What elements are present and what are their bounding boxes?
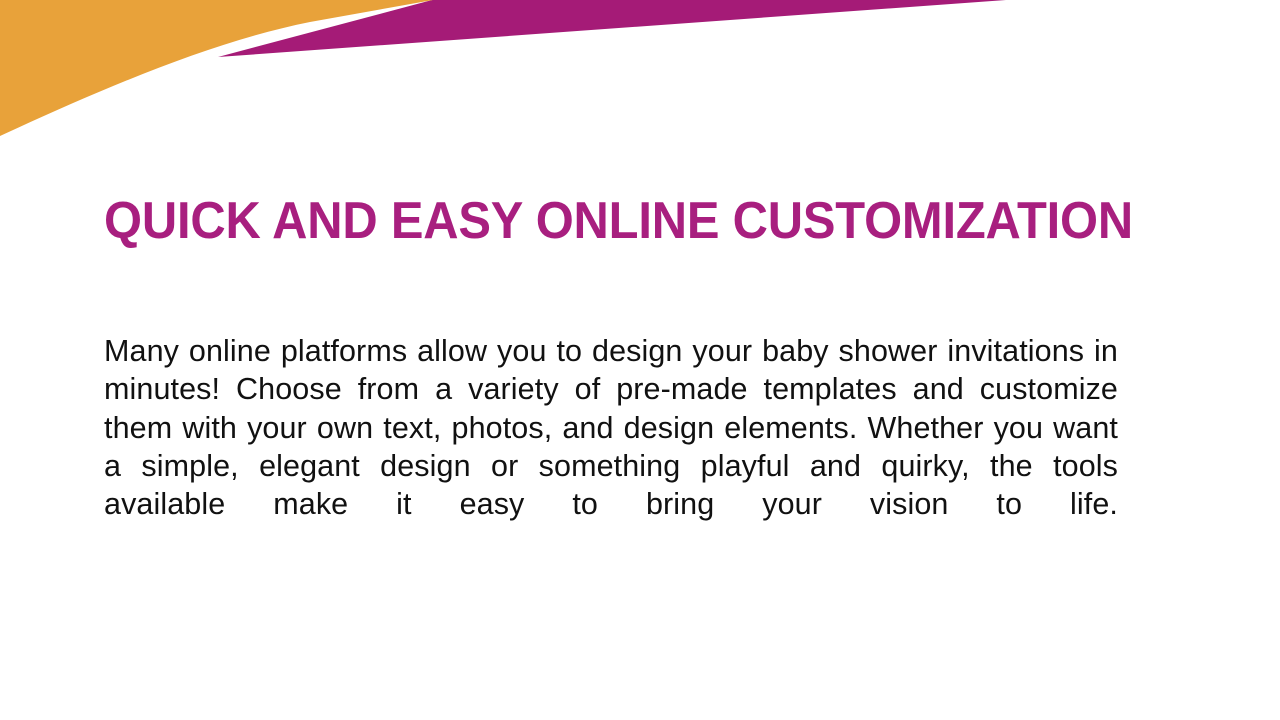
page-title: QUICK AND EASY ONLINE CUSTOMIZATION — [104, 190, 1057, 252]
magenta-corner-shape — [218, 0, 1006, 57]
body-paragraph: Many online platforms allow you to desig… — [104, 252, 1118, 562]
slide-content: QUICK AND EASY ONLINE CUSTOMIZATION Many… — [104, 190, 1118, 562]
slide-canvas: QUICK AND EASY ONLINE CUSTOMIZATION Many… — [0, 0, 1280, 720]
orange-corner-shape — [0, 0, 433, 136]
